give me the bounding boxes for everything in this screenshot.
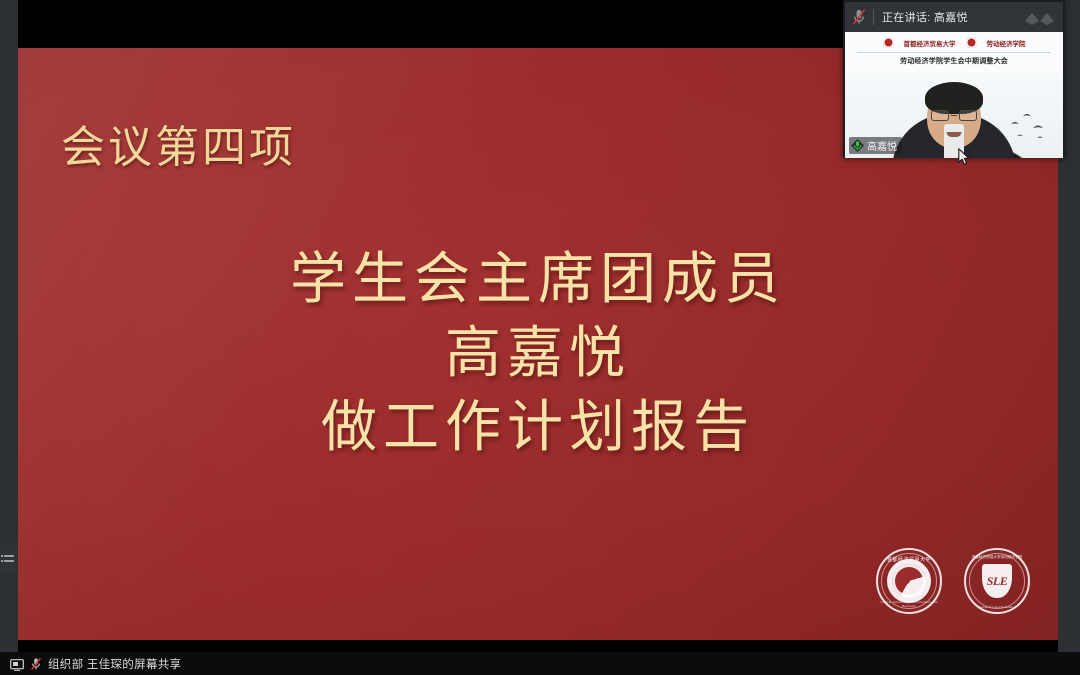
slide-kicker-text: 会议第四项: [61, 126, 296, 170]
slide-line-3: 做工作计划报告: [18, 392, 1058, 466]
slide-logo-group: 首都经济贸易大学 Capital University of Economics…: [876, 548, 1030, 614]
sle-cn-arc-text: 首都经济贸易大学劳动经济学院: [964, 555, 1030, 560]
header-divider: [873, 9, 874, 25]
shared-slide-divider: [857, 52, 1051, 53]
glasses-bridge: [951, 115, 957, 116]
glasses-lens-left: [931, 110, 949, 121]
shared-slide-org-row: 首都经济贸易大学 劳动经济学院: [853, 37, 1055, 48]
school-of-labor-economics-logo: 首都经济贸易大学劳动经济学院 SLE School of Labor Econo…: [964, 548, 1030, 614]
shared-slide-org-right: 劳动经济学院: [987, 38, 1026, 48]
person-glasses-icon: [931, 110, 977, 121]
mic-muted-icon: [30, 657, 42, 671]
sidebar-panel-handle[interactable]: [1, 543, 17, 573]
seal-emblem-icon: [892, 564, 926, 598]
left-panel-rail: [0, 0, 18, 675]
mic-muted-icon: [851, 8, 867, 26]
slide-body: 学生会主席团成员 高嘉悦 做工作计划报告: [18, 244, 1058, 466]
shared-slide-org-left: 首都经济贸易大学: [904, 38, 956, 48]
sle-shield-text: SLE: [987, 574, 1008, 589]
mini-seal-left-icon: [883, 37, 894, 48]
slide-line-2: 高嘉悦: [18, 318, 1058, 392]
seal-en-arc-text: Capital University of Economics and Busi…: [876, 600, 942, 607]
status-bar: 组织部 王佳琛的屏幕共享: [0, 652, 1080, 675]
speaker-video-feed[interactable]: 首都经济贸易大学 劳动经济学院 劳动经济学院学生会中期调整大会: [845, 32, 1063, 158]
person-collar: [944, 124, 964, 158]
meeting-window: 会议第四项 学生会主席团成员 高嘉悦 做工作计划报告 首都经济贸易大学 Capi…: [0, 0, 1080, 675]
mic-active-icon: [851, 139, 864, 152]
thumbnail-header[interactable]: 正在讲话: 高嘉悦: [845, 2, 1063, 32]
screen-share-status-text: 组织部 王佳琛的屏幕共享: [48, 656, 181, 672]
seal-cn-arc-text: 首都经济贸易大学: [876, 556, 942, 563]
background-birds-decoration: [1007, 110, 1053, 144]
university-seal-logo: 首都经济贸易大学 Capital University of Economics…: [876, 548, 942, 614]
speaker-name-badge: 高嘉悦: [849, 137, 902, 154]
list-panel-icon: [4, 555, 14, 557]
mini-seal-right-icon: [966, 37, 977, 48]
slide-line-1: 学生会主席团成员: [18, 244, 1058, 318]
list-panel-icon-line2: [4, 560, 14, 562]
sle-en-arc-text: School of Labor Economics: [964, 605, 1030, 609]
shared-slide-subtitle: 劳动经济学院学生会中期调整大会: [853, 56, 1055, 66]
speaker-thumbnail-panel[interactable]: 正在讲话: 高嘉悦 首都经济贸易大学 劳动经济学院 劳动经济学院学生会中期调整大…: [843, 0, 1065, 158]
speaking-status-label: 正在讲话: 高嘉悦: [882, 9, 1023, 25]
double-chevron-collapse-icon[interactable]: [1023, 8, 1057, 26]
speaker-name-label: 高嘉悦: [867, 138, 897, 153]
glasses-lens-right: [959, 110, 977, 121]
screen-share-icon: [10, 658, 24, 670]
